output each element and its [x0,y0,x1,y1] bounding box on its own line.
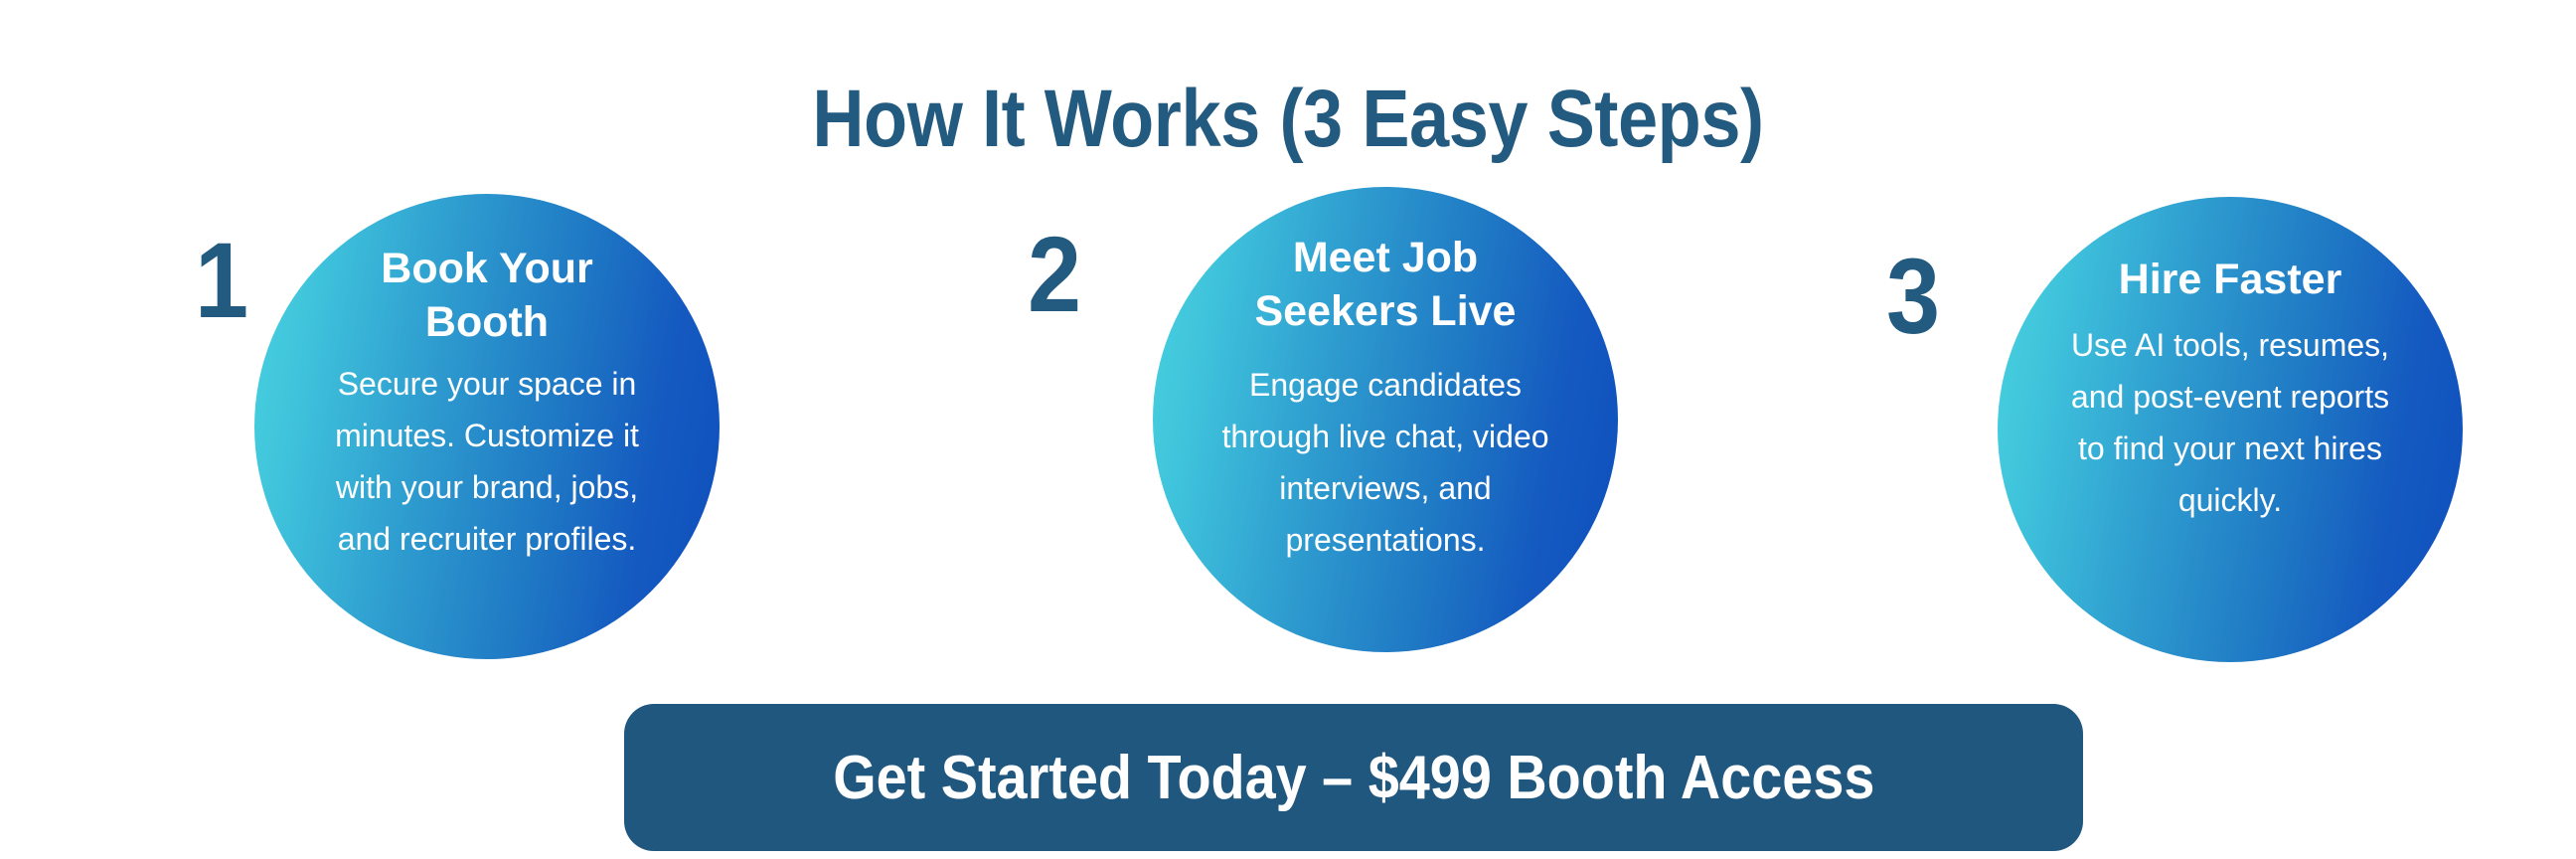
step-item-3: 3 Hire Faster Use AI tools, resumes, and… [1878,0,2576,716]
step-item-2: 2 Meet Job Seekers Live Engage candidate… [1014,0,1729,716]
step-number-2: 2 [1028,221,1081,328]
steps-row: 1 Book Your Booth Secure your space in m… [0,0,2576,716]
step-number-3: 3 [1886,243,1940,350]
step-title-2: Meet Job Seekers Live [1216,231,1554,338]
step-number-1: 1 [195,227,248,334]
step-circle-3[interactable]: Hire Faster Use AI tools, resumes, and p… [1998,197,2463,662]
step-circle-2[interactable]: Meet Job Seekers Live Engage candidates … [1153,187,1618,652]
step-description-2: Engage candidates through live chat, vid… [1207,360,1564,566]
get-started-button[interactable]: Get Started Today – $499 Booth Access [624,704,2083,851]
cta-button-label: Get Started Today – $499 Booth Access [833,743,1874,813]
step-description-1: Secure your space in minutes. Customize … [313,359,661,565]
step-title-3: Hire Faster [2051,253,2409,306]
step-item-1: 1 Book Your Booth Secure your space in m… [169,0,885,716]
step-description-3: Use AI tools, resumes, and post-event re… [2066,320,2394,526]
step-title-1: Book Your Booth [323,242,651,349]
step-circle-1[interactable]: Book Your Booth Secure your space in min… [254,194,720,659]
